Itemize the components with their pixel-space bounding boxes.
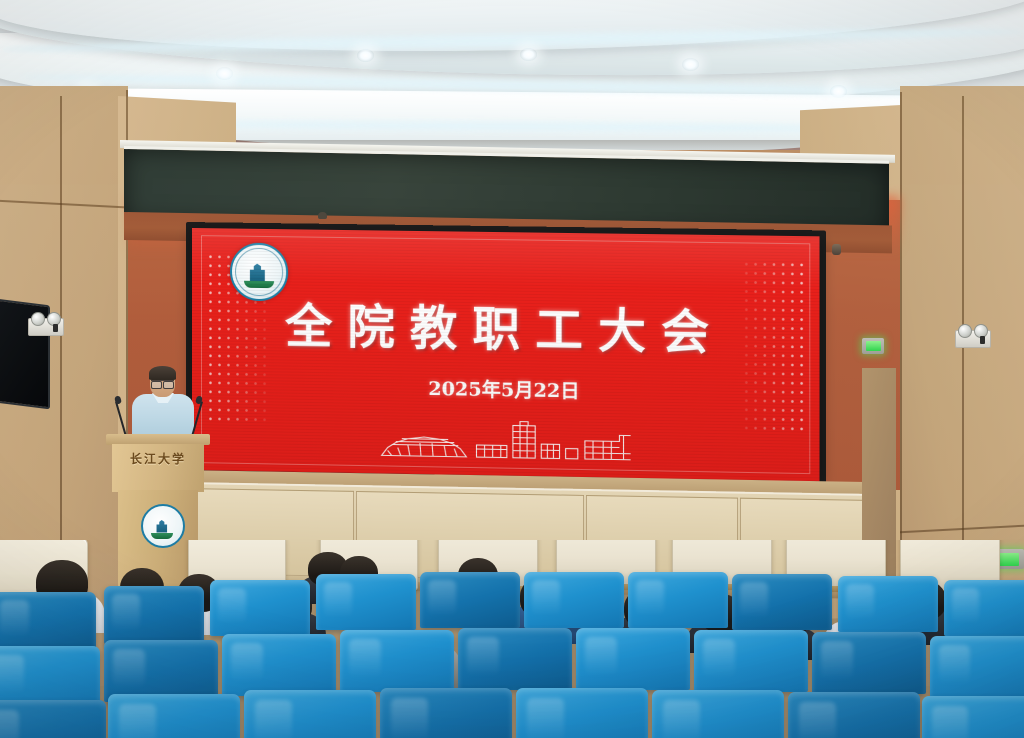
auditorium-seat (524, 572, 624, 628)
auditorium-seat (244, 690, 376, 738)
auditorium-seat (316, 574, 416, 630)
auditorium-seat (380, 688, 512, 738)
emergency-lamp (31, 312, 45, 326)
auditorium-seat (652, 690, 784, 738)
microphone-head (114, 395, 122, 404)
auditorium-seat (104, 640, 218, 702)
auditorium-seat (108, 694, 240, 738)
city-skyline-icon (378, 417, 631, 462)
exit-sign-icon (862, 338, 884, 354)
glasses-icon (151, 380, 174, 387)
emergency-light-icon (28, 318, 64, 336)
auditorium-seat (222, 634, 336, 696)
auditorium-seat (210, 580, 310, 636)
podium-name-plate: 长江大学 (112, 450, 204, 467)
downlight-icon (520, 48, 537, 61)
auditorium-seat (0, 592, 96, 650)
speaker-hair (149, 366, 176, 380)
auditorium-seat (0, 646, 100, 708)
emergency-light-switch (53, 324, 58, 332)
spotlight-can (832, 244, 841, 255)
emblem-building-glyph (155, 520, 172, 533)
auditorium-seat (516, 688, 648, 738)
downlight-icon (682, 58, 699, 71)
auditorium-seat (788, 692, 920, 738)
emergency-lamp (958, 324, 972, 338)
auditorium-seat (812, 632, 926, 694)
podium-front-板: 长江大学 (112, 444, 204, 492)
auditorium-seat (458, 628, 572, 690)
wall-seam (900, 92, 902, 602)
auditorium-photo: 全院教职工大会 2025年5月22日 (0, 0, 1024, 738)
auditorium-seat (104, 586, 204, 644)
auditorium-seat (628, 572, 728, 628)
auditorium-seat (838, 576, 938, 632)
auditorium-seat (922, 696, 1024, 738)
auditorium-seat (694, 630, 808, 692)
auditorium-seat (420, 572, 520, 628)
emblem-water-glyph (151, 533, 173, 539)
auditorium-seat (0, 700, 106, 738)
led-screen-banner: 全院教职工大会 2025年5月22日 (192, 228, 820, 481)
auditorium-seat (576, 628, 690, 690)
auditorium-seat (930, 636, 1024, 698)
downlight-icon (357, 49, 374, 62)
emergency-light-switch (980, 336, 985, 344)
downlight-icon (830, 85, 847, 98)
banner-title: 全院教职工大会 (192, 286, 820, 365)
ceiling-camera-icon (318, 212, 327, 219)
auditorium-seat (732, 574, 832, 630)
audience-seating (0, 540, 1024, 738)
downlight-icon (216, 67, 233, 80)
emergency-light-icon (955, 330, 991, 348)
auditorium-seat (944, 580, 1024, 636)
auditorium-seat (340, 630, 454, 692)
wall-seam (60, 96, 62, 596)
